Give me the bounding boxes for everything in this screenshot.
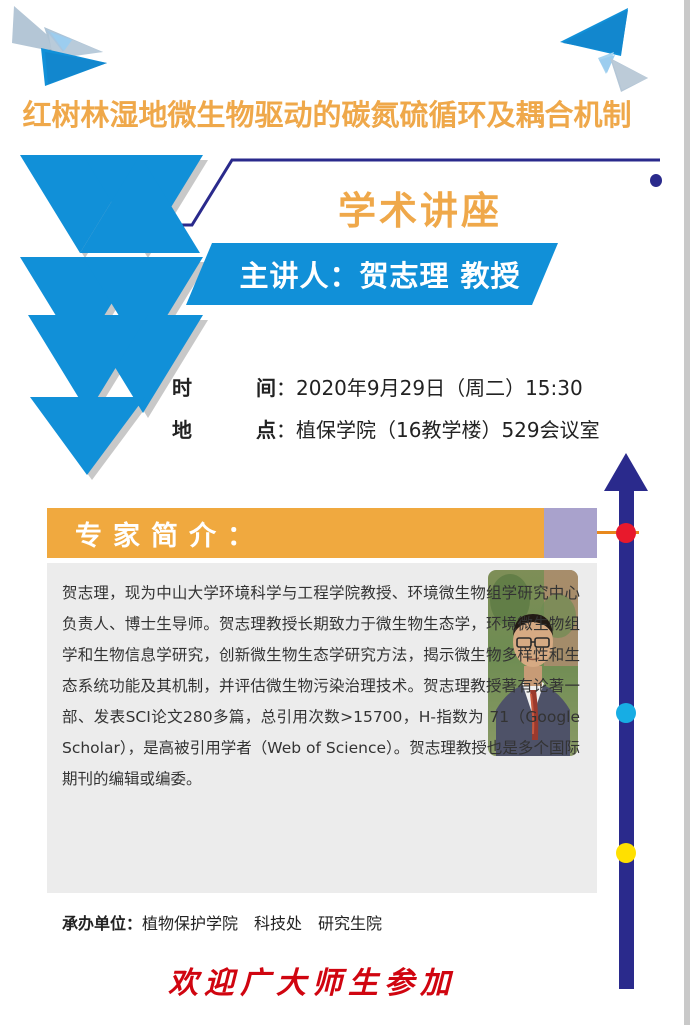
organizers: 承办单位：植物保护学院 科技处 研究生院 bbox=[62, 910, 382, 934]
page-title: 红树林湿地微生物驱动的碳氮硫循环及耦合机制 bbox=[0, 98, 654, 132]
organizers-label: 承办单位： bbox=[62, 914, 142, 933]
vertical-arrow-decoration bbox=[600, 445, 660, 1005]
speaker-name: 主讲人：贺志理 教授 bbox=[210, 243, 550, 305]
seminar-poster: 红树林湿地微生物驱动的碳氮硫循环及耦合机制 bbox=[0, 0, 690, 1025]
welcome-text: 欢迎广大师生参加 bbox=[0, 958, 624, 1002]
marker-dot-red bbox=[616, 523, 636, 543]
navy-endpoint-dot bbox=[650, 174, 662, 187]
place-label: 地 点 bbox=[172, 414, 276, 443]
expert-section-band-cap bbox=[544, 508, 597, 558]
info-row-place: 地 点 ：植保学院（16教学楼）529会议室 bbox=[172, 414, 600, 443]
subtitle: 学术讲座 bbox=[220, 180, 620, 235]
time-value: ：2020年9月29日（周二）15:30 bbox=[276, 372, 583, 401]
organizers-value: 植物保护学院 科技处 研究生院 bbox=[142, 914, 382, 933]
decorative-arrow-cluster-left bbox=[8, 0, 198, 105]
place-value: ：植保学院（16教学楼）529会议室 bbox=[276, 414, 600, 443]
expert-section-title: 专家简介： bbox=[75, 508, 265, 558]
marker-dot-yellow bbox=[616, 843, 636, 863]
info-row-time: 时 间 ：2020年9月29日（周二）15:30 bbox=[172, 372, 600, 401]
decorative-arrow-cluster-right bbox=[488, 0, 658, 105]
event-info: 时 间 ：2020年9月29日（周二）15:30 地 点 ：植保学院（16教学楼… bbox=[172, 372, 600, 456]
bio-text: 贺志理，现为中山大学环境科学与工程学院教授、环境微生物组学研究中心负责人、博士生… bbox=[62, 578, 580, 795]
time-label: 时 间 bbox=[172, 372, 276, 401]
marker-dot-cyan bbox=[616, 703, 636, 723]
